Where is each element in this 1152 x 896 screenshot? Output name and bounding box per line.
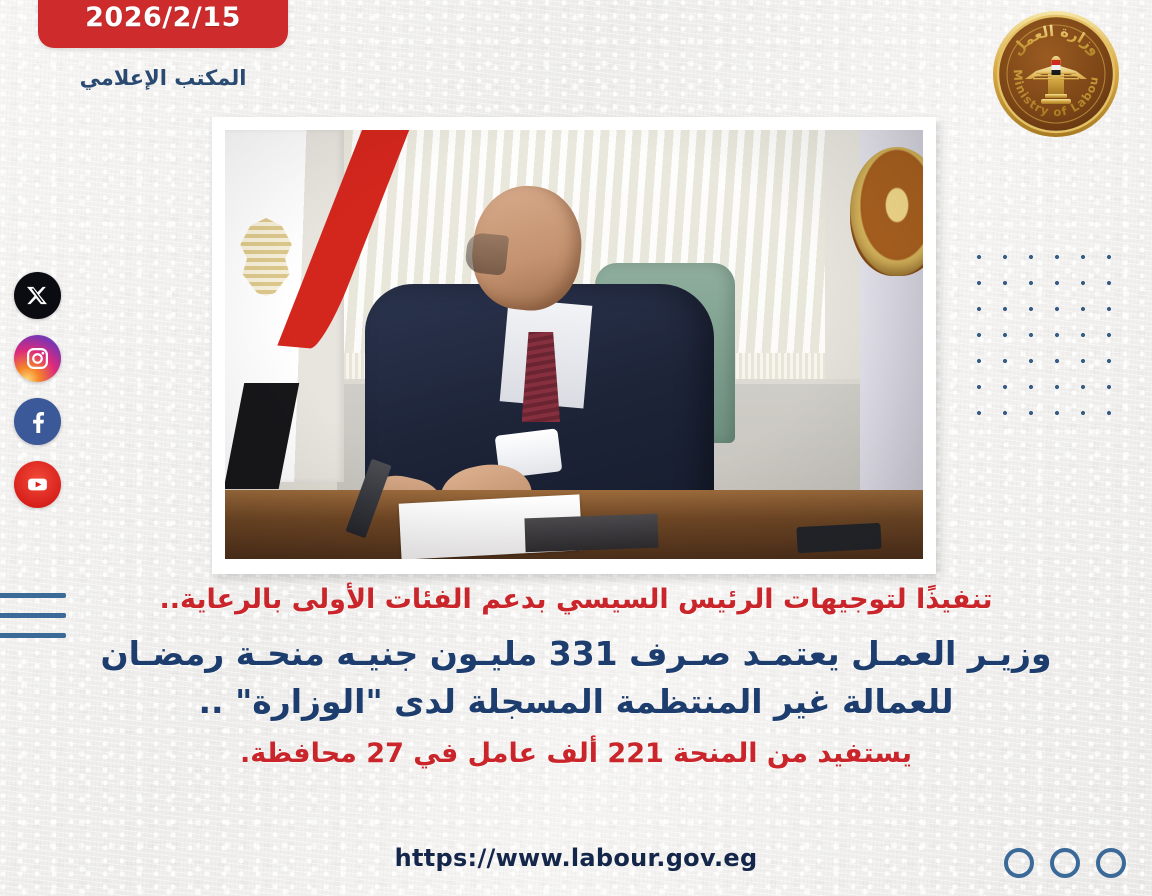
dot-grid-decoration — [964, 242, 1128, 432]
website-url[interactable]: https://www.labour.gov.eg — [0, 844, 1152, 872]
youtube-icon — [25, 472, 50, 497]
ministry-logo: وزارة العمل Ministry of Labour — [990, 8, 1122, 140]
news-photo-frame — [212, 117, 936, 574]
date-badge-text: 2026/2/15 — [85, 2, 241, 33]
circle-2 — [1050, 848, 1080, 878]
news-photo — [225, 130, 923, 559]
circle-3 — [1096, 848, 1126, 878]
x-twitter-icon — [26, 284, 49, 307]
social-link-facebook[interactable] — [14, 398, 61, 445]
photo-vignette — [225, 130, 923, 559]
circles-decoration — [1004, 848, 1126, 878]
facebook-icon — [25, 409, 50, 434]
headline-kicker: تنفيذًا لتوجيهات الرئيس السيسي بدعم الفئ… — [62, 582, 1090, 618]
headline-main-line-1: وزيـر العمـل يعتمـد صـرف 331 مليـون جنيـ… — [62, 630, 1090, 678]
ministry-seal-icon: وزارة العمل Ministry of Labour — [990, 8, 1122, 140]
instagram-icon — [25, 346, 50, 371]
headline-main-line-2: للعمالة غير المنتظمة المسجلة لدى "الوزار… — [62, 678, 1090, 726]
social-link-x[interactable] — [14, 272, 61, 319]
headline-subline: يستفيد من المنحة 221 ألف عامل في 27 محاف… — [62, 736, 1090, 772]
media-office-label: المكتب الإعلامي — [38, 66, 288, 90]
social-link-instagram[interactable] — [14, 335, 61, 382]
social-media-rail — [14, 272, 61, 508]
social-link-youtube[interactable] — [14, 461, 61, 508]
date-badge: 2026/2/15 — [38, 0, 288, 48]
headline-main: وزيـر العمـل يعتمـد صـرف 331 مليـون جنيـ… — [62, 630, 1090, 726]
headline-block: تنفيذًا لتوجيهات الرئيس السيسي بدعم الفئ… — [0, 582, 1152, 773]
circle-1 — [1004, 848, 1034, 878]
